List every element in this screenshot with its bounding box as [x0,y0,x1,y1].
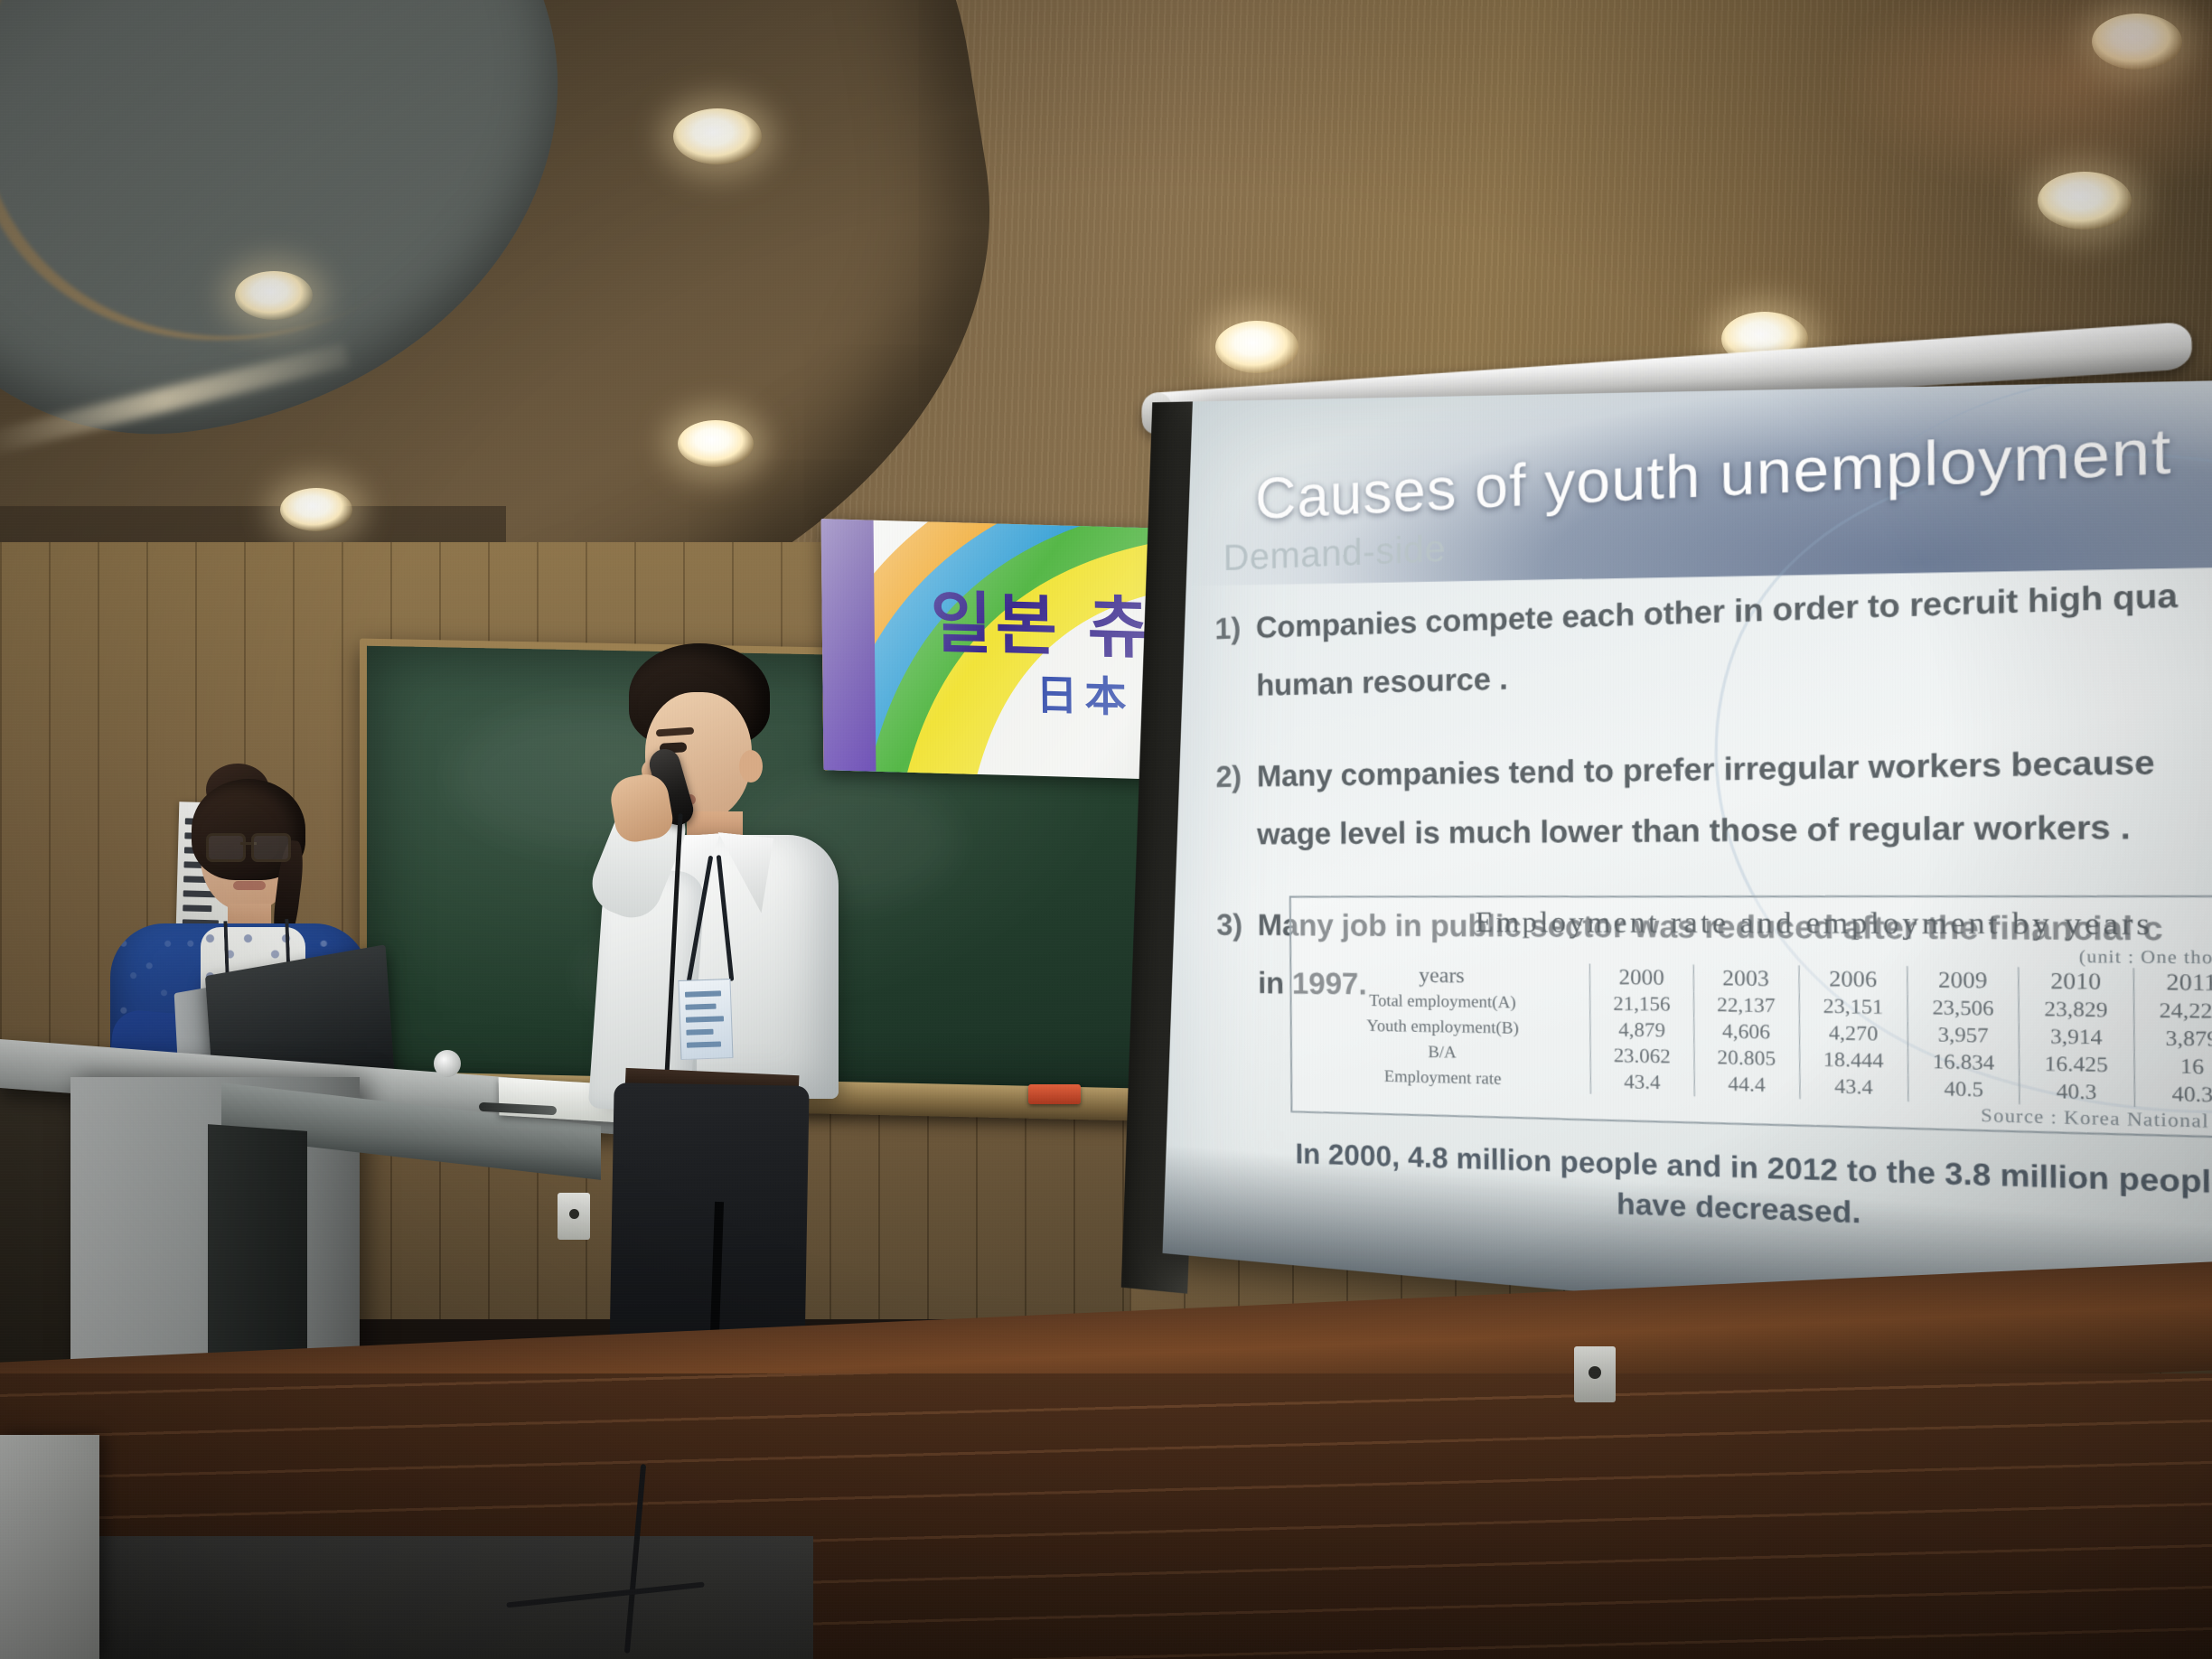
cell: 16.834 [1908,1048,2020,1077]
cell: 16.425 [2020,1050,2134,1080]
ceiling-downlight-5 [1215,321,1298,373]
presentation-photo-scene: 일본 츄오 日本 中 Causes of youth unemployment … [0,0,2212,1659]
glasses-lens-left [206,833,246,862]
presenter-ear [739,750,763,783]
ceiling-downlight-7 [2038,172,2132,230]
cell: 4,606 [1693,1017,1799,1045]
projection-screen: Causes of youth unemployment Demand-side… [1163,378,2212,1360]
wall-outlet[interactable] [558,1193,590,1240]
bullet-2-line1: Many companies tend to prefer irregular … [1257,744,2155,793]
poster-line-7 [183,904,211,912]
cell: 16 [2133,1052,2212,1082]
cell: 23,151 [1799,993,1907,1021]
glasses-lens-right [251,833,291,862]
ceiling-downlight-1 [235,271,313,320]
bullet-1-number: 1) [1214,599,1256,658]
table-col-2010: 2010 [2019,967,2133,997]
slide-table-wrapper: Employment rate and employment by years … [1289,895,2212,1143]
bullet-2-number: 2) [1215,748,1257,806]
ceiling-downlight-4 [678,420,754,467]
cell: 40.3 [2134,1080,2212,1111]
cell: 24,224 [2133,997,2212,1026]
slide-data-table-box: Employment rate and employment by years … [1289,895,2212,1143]
desk-microphone-ball[interactable] [434,1050,461,1077]
cell: 3,914 [2020,1023,2134,1052]
badge-line-1 [685,990,721,997]
name-badge [678,979,733,1060]
cell: 23,829 [2019,995,2133,1024]
table-col-2011: 2011 [2133,968,2212,998]
wall-outlet-right[interactable] [1574,1346,1616,1402]
table-title: Employment rate and employment by years [1298,904,2212,948]
cell: 22,137 [1693,991,1799,1019]
ledge-item-1 [1028,1084,1081,1104]
bullet-3-number: 3) [1216,896,1258,954]
cell: 20.805 [1693,1044,1799,1072]
projection-screen-assembly: Causes of youth unemployment Demand-side… [1121,378,2212,1403]
cell: 4,270 [1799,1019,1907,1047]
ceiling-downlight-3 [673,108,762,164]
lower-floor [0,1536,813,1659]
cell: 40.5 [1908,1074,2020,1104]
cell: 44.4 [1694,1070,1800,1099]
badge-line-4 [686,1029,713,1036]
ceiling-downlight-2 [280,488,352,531]
slide-bullet-2: 2)Many companies tend to prefer irregula… [1215,726,2212,863]
cell: 3,957 [1907,1021,2019,1050]
cell: 23,506 [1907,994,2019,1023]
table-col-2003: 2003 [1693,964,1799,992]
table-col-2009: 2009 [1907,966,2019,995]
badge-line-5 [687,1041,721,1047]
table-col-2000: 2000 [1590,963,1693,991]
cell: 4,879 [1590,1017,1693,1045]
white-equipment-box [0,1435,99,1659]
cell: 23.062 [1590,1042,1693,1070]
operator-mouth [233,881,266,890]
cell: 18.444 [1799,1045,1907,1074]
cell: 3,879 [2133,1024,2212,1054]
cell: 21,156 [1590,990,1693,1017]
ceiling-downlight-8 [2092,14,2182,70]
bullet-2-line2: wage level is much lower than those of r… [1216,792,2212,864]
table-corner-label: years [1298,961,1590,990]
badge-line-3 [686,1016,724,1022]
table-col-2006: 2006 [1799,965,1907,994]
badge-text-lines [680,979,730,981]
eyeglasses-icon [206,833,291,857]
cell: 43.4 [1800,1073,1908,1101]
cell: 43.4 [1591,1068,1694,1096]
badge-line-2 [685,1004,716,1010]
cell: 40.3 [2020,1077,2134,1107]
banner-purple-bar [821,519,876,772]
